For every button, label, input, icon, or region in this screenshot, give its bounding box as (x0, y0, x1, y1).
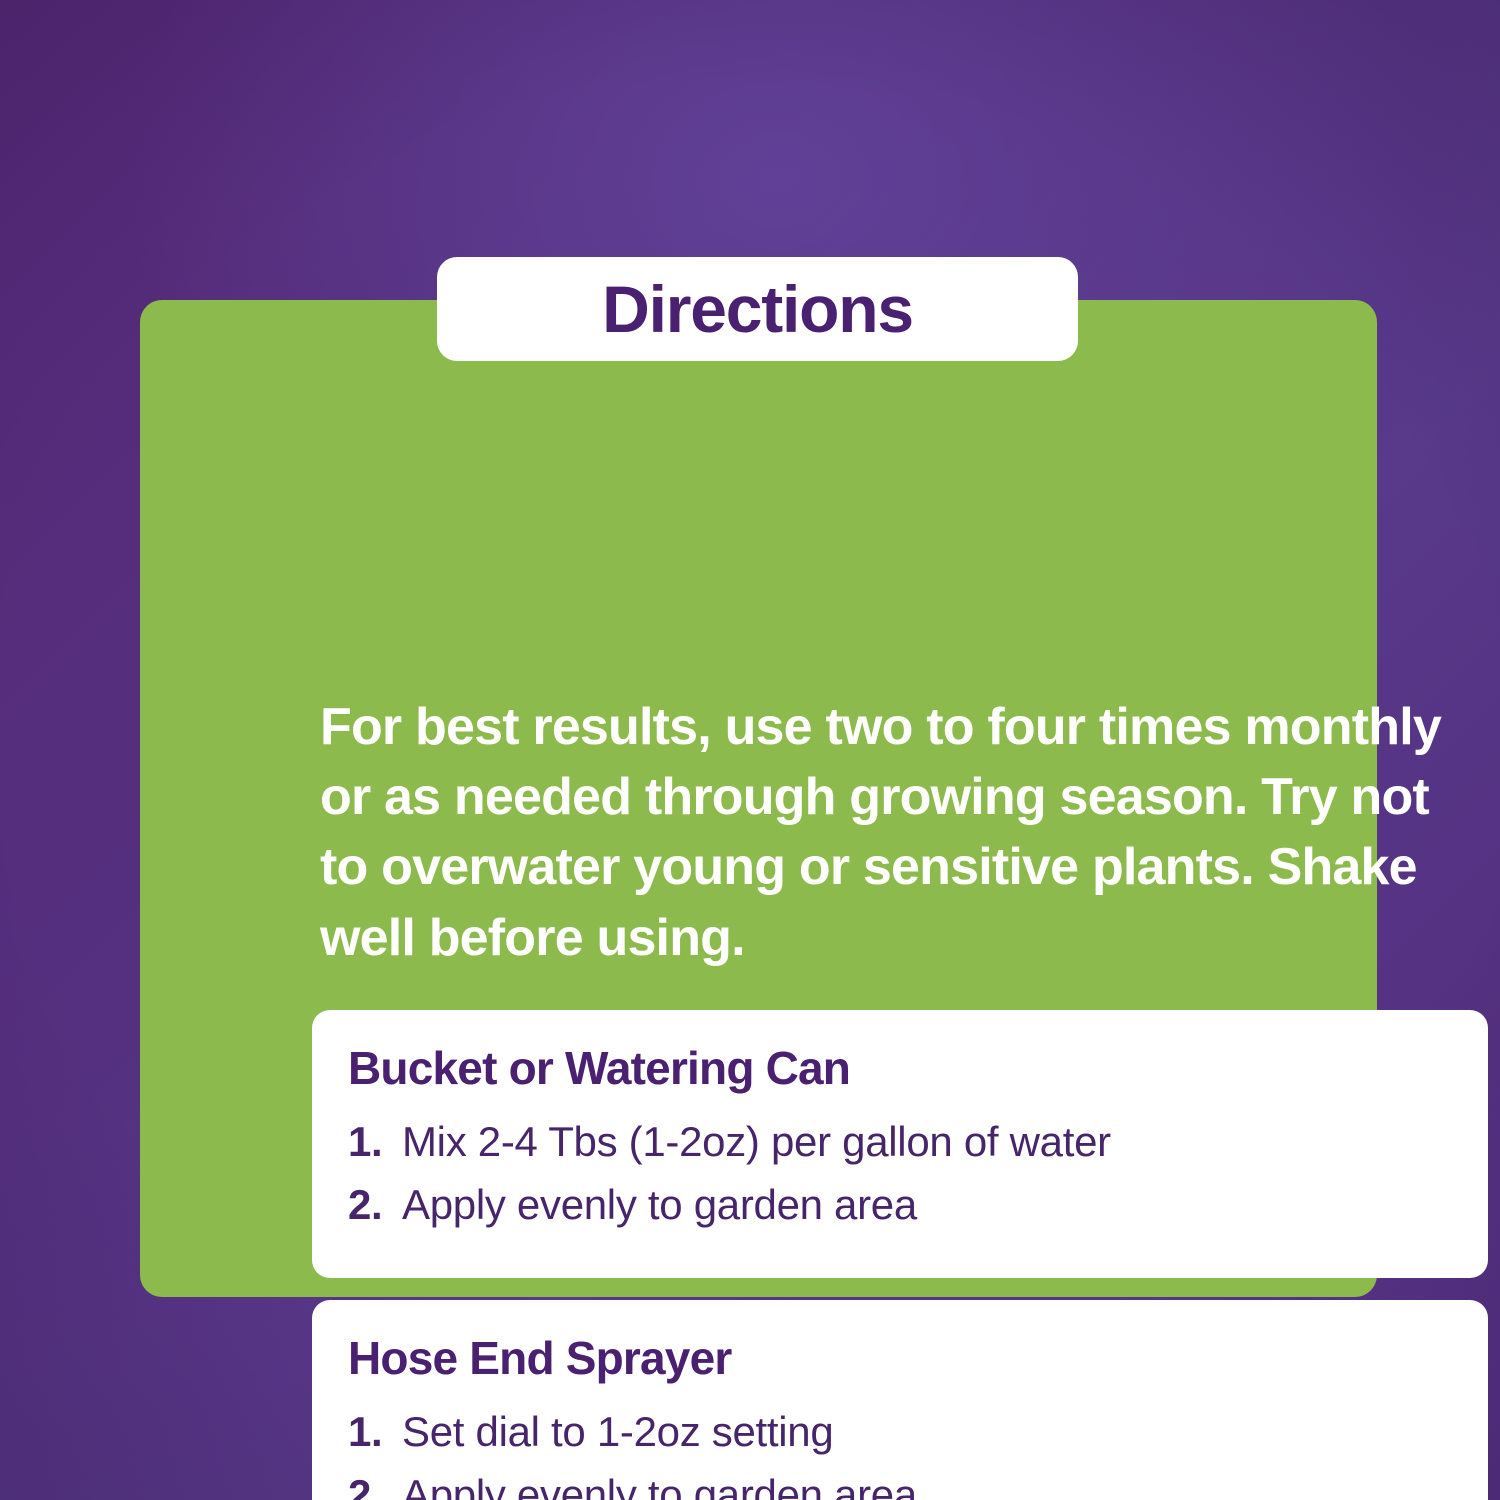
card-title: Bucket or Watering Can (348, 1044, 1452, 1092)
intro-paragraph: For best results, use two to four times … (320, 692, 1480, 973)
page-title: Directions (602, 276, 913, 342)
step-number: 1. (348, 1114, 402, 1171)
instruction-card-hose-end-sprayer: Hose End Sprayer 1. Set dial to 1-2oz se… (312, 1300, 1488, 1500)
step-text: Set dial to 1-2oz setting (402, 1404, 833, 1461)
card-title: Hose End Sprayer (348, 1334, 1452, 1382)
step-number: 2. (348, 1177, 402, 1234)
directions-title-pill: Directions (437, 257, 1078, 361)
step-text: Apply evenly to garden area (402, 1467, 917, 1500)
list-item: 1. Set dial to 1-2oz setting (348, 1404, 1452, 1461)
list-item: 2. Apply evenly to garden area (348, 1177, 1452, 1234)
instruction-card-bucket: Bucket or Watering Can 1. Mix 2-4 Tbs (1… (312, 1010, 1488, 1278)
step-text: Mix 2-4 Tbs (1-2oz) per gallon of water (402, 1114, 1111, 1171)
list-item: 1. Mix 2-4 Tbs (1-2oz) per gallon of wat… (348, 1114, 1452, 1171)
step-text: Apply evenly to garden area (402, 1177, 917, 1234)
list-item: 2. Apply evenly to garden area (348, 1467, 1452, 1500)
step-list: 1. Mix 2-4 Tbs (1-2oz) per gallon of wat… (348, 1114, 1452, 1233)
step-number: 1. (348, 1404, 402, 1461)
step-number: 2. (348, 1467, 402, 1500)
directions-panel: For best results, use two to four times … (140, 300, 1377, 1297)
step-list: 1. Set dial to 1-2oz setting 2. Apply ev… (348, 1404, 1452, 1500)
